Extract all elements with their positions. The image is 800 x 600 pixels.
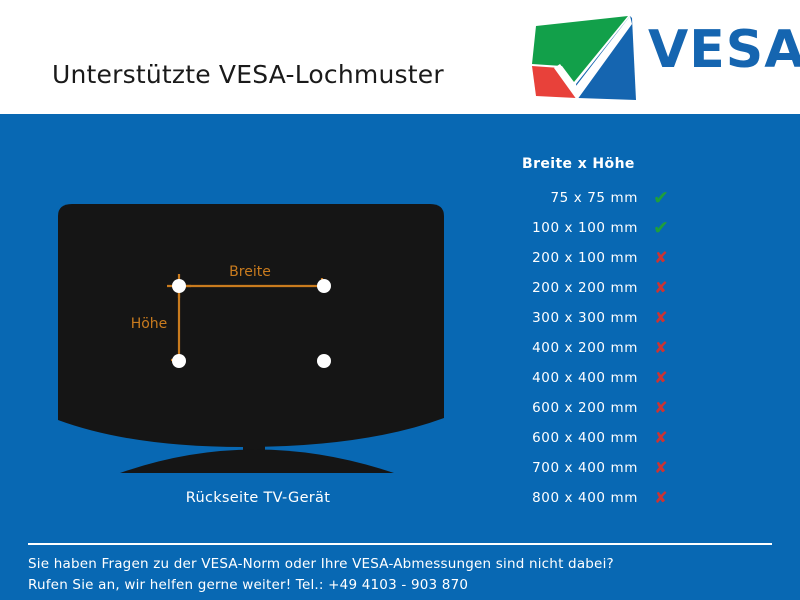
- vesa-info-page: Unterstützte VESA-Lochmuster VESA: [0, 0, 800, 600]
- table-row: 700 x 400 mm ✘: [498, 458, 708, 488]
- vesa-size-label: 800 x 400 mm: [498, 490, 638, 506]
- vesa-size-label: 600 x 200 mm: [498, 400, 638, 416]
- hole-bottom-right-icon: [317, 354, 331, 368]
- tv-base: [120, 450, 394, 474]
- cross-icon: ✘: [648, 308, 674, 328]
- vesa-size-label: 300 x 300 mm: [498, 310, 638, 326]
- cross-icon: ✘: [648, 398, 674, 418]
- table-row: 200 x 200 mm ✘: [498, 278, 708, 308]
- vesa-size-label: 200 x 200 mm: [498, 280, 638, 296]
- vesa-size-label: 75 x 75 mm: [498, 190, 638, 206]
- footer-contact-text: Sie haben Fragen zu der VESA-Norm oder I…: [28, 554, 778, 596]
- footer-line-1: Sie haben Fragen zu der VESA-Norm oder I…: [28, 554, 778, 575]
- page-header: Unterstützte VESA-Lochmuster VESA: [0, 0, 800, 114]
- vesa-size-label: 200 x 100 mm: [498, 250, 638, 266]
- table-row: 400 x 400 mm ✘: [498, 368, 708, 398]
- table-column-header-size: Breite x Höhe: [522, 156, 635, 172]
- vesa-pattern-table: Breite x Höhe 75 x 75 mm ✔ 100 x 100 mm …: [498, 156, 708, 518]
- page-title: Unterstützte VESA-Lochmuster: [52, 60, 444, 89]
- cross-icon: ✘: [648, 488, 674, 508]
- width-label: Breite: [229, 264, 271, 280]
- check-icon: ✔: [648, 218, 674, 238]
- cross-icon: ✘: [648, 278, 674, 298]
- tv-diagram: Breite Höhe: [48, 190, 468, 490]
- vesa-size-label: 400 x 200 mm: [498, 340, 638, 356]
- footer-line-2: Rufen Sie an, wir helfen gerne weiter! T…: [28, 575, 778, 596]
- table-row: 100 x 100 mm ✔: [498, 218, 708, 248]
- vesa-logo-mark: [532, 16, 636, 102]
- vesa-size-label: 400 x 400 mm: [498, 370, 638, 386]
- tv-caption: Rückseite TV-Gerät: [48, 490, 468, 506]
- footer-divider: [28, 543, 772, 545]
- cross-icon: ✘: [648, 428, 674, 448]
- cross-icon: ✘: [648, 248, 674, 268]
- table-row: 600 x 400 mm ✘: [498, 428, 708, 458]
- cross-icon: ✘: [648, 338, 674, 358]
- table-row: 600 x 200 mm ✘: [498, 398, 708, 428]
- cross-icon: ✘: [648, 458, 674, 478]
- table-row: 200 x 100 mm ✘: [498, 248, 708, 278]
- hole-top-right-icon: [317, 279, 331, 293]
- tv-panel: [58, 204, 444, 447]
- check-icon: ✔: [648, 188, 674, 208]
- table-row: 75 x 75 mm ✔: [498, 188, 708, 218]
- height-label: Höhe: [131, 316, 168, 332]
- cross-icon: ✘: [648, 368, 674, 388]
- vesa-wordmark: VESA: [648, 24, 800, 76]
- vesa-size-label: 100 x 100 mm: [498, 220, 638, 236]
- table-row: 400 x 200 mm ✘: [498, 338, 708, 368]
- table-row: 300 x 300 mm ✘: [498, 308, 708, 338]
- table-row: 800 x 400 mm ✘: [498, 488, 708, 518]
- tv-back-illustration: Breite Höhe Rückseite TV-Gerät: [48, 190, 468, 530]
- vesa-size-label: 600 x 400 mm: [498, 430, 638, 446]
- table-header-row: Breite x Höhe: [498, 156, 708, 188]
- vesa-size-label: 700 x 400 mm: [498, 460, 638, 476]
- vesa-logo: VESA: [532, 16, 788, 100]
- hole-top-left-icon: [172, 279, 186, 293]
- hole-bottom-left-icon: [172, 354, 186, 368]
